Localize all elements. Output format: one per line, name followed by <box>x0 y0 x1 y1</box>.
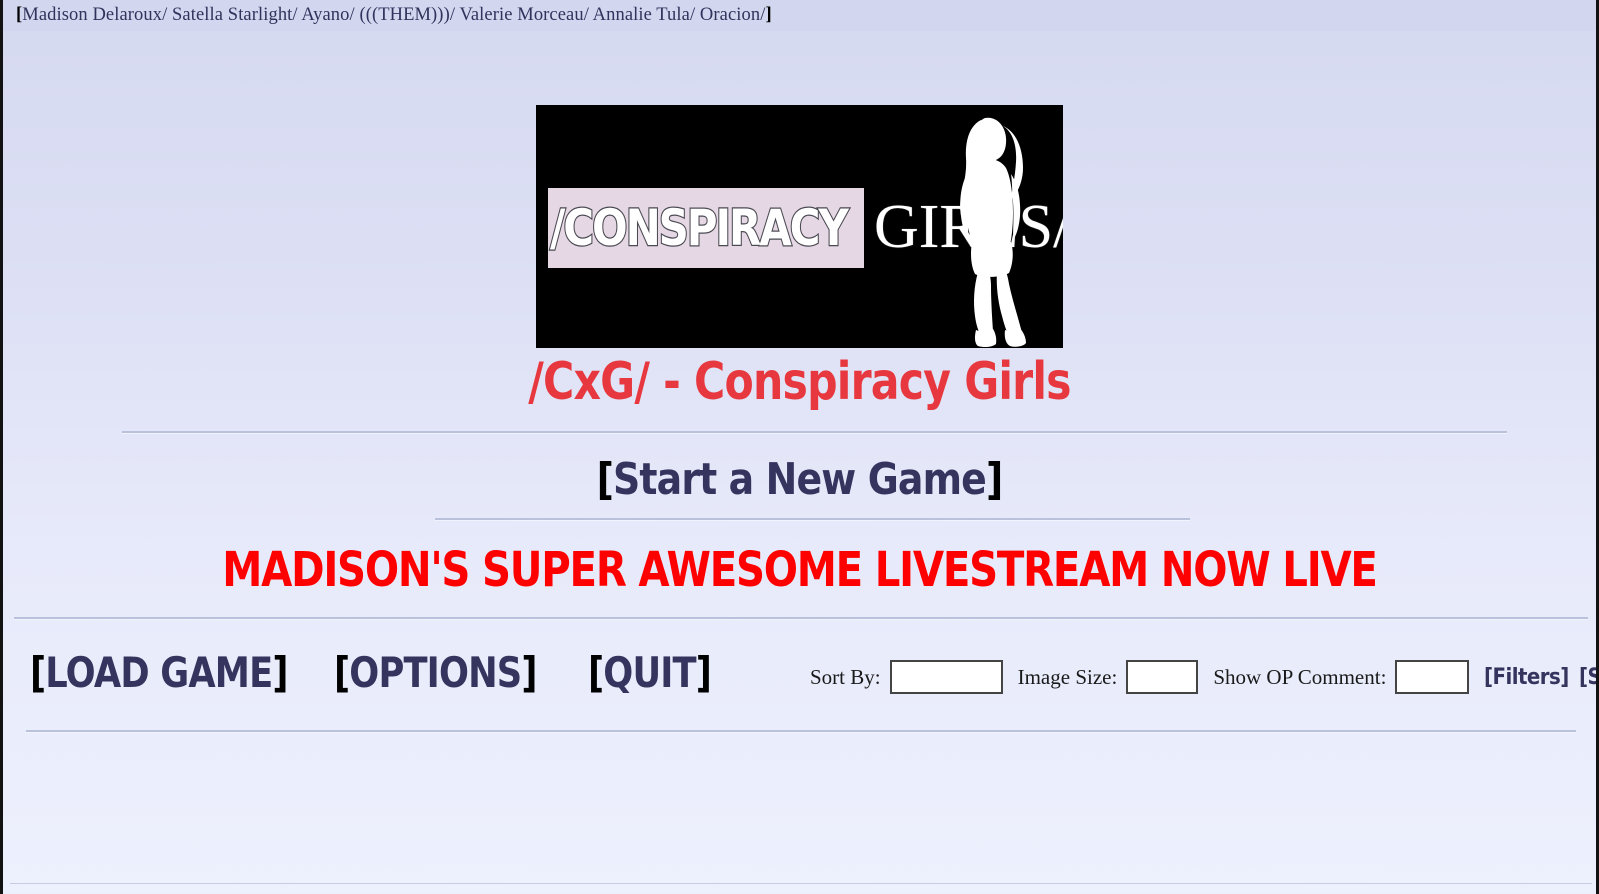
options-close-bracket: ] <box>521 648 536 697</box>
board-list-bar: [Madison Delaroux/ Satella Starlight/ Ay… <box>0 0 1599 31</box>
load-game-close-bracket: ] <box>272 648 287 697</box>
divider-top <box>122 431 1507 434</box>
options-open-bracket: [ <box>334 648 349 697</box>
filter-controls: Sort By: Image Size: Show OP Comment: [F… <box>810 660 1599 694</box>
banner-container: /CONSPIRACY GIRLS/ <box>0 105 1599 348</box>
new-game-close-bracket: ] <box>986 454 1002 505</box>
board-banner-image[interactable]: /CONSPIRACY GIRLS/ <box>536 105 1063 348</box>
options-button[interactable]: [OPTIONS] <box>334 648 537 698</box>
load-game-open-bracket: [ <box>30 648 45 697</box>
search-link[interactable]: [Search] <box>1579 665 1599 690</box>
divider-page-bottom <box>10 883 1592 884</box>
quit-open-bracket: [ <box>588 648 603 697</box>
quit-button[interactable]: [QUIT] <box>588 648 711 698</box>
banner-conspiracy-text: /CONSPIRACY <box>550 192 814 264</box>
filters-link[interactable]: [Filters] <box>1484 665 1569 690</box>
divider-under-new-game <box>435 518 1190 521</box>
options-label: OPTIONS <box>349 648 521 697</box>
quit-close-bracket: ] <box>696 648 711 697</box>
announcement-banner: MADISON'S SUPER AWESOME LIVESTREAM NOW L… <box>128 540 1471 600</box>
woman-silhouette-icon <box>933 116 1053 348</box>
load-game-button[interactable]: [LOAD GAME] <box>30 648 288 698</box>
sort-by-select[interactable] <box>890 660 1003 694</box>
new-game-open-bracket: [ <box>597 454 613 505</box>
show-op-comment-label: Show OP Comment: <box>1213 665 1386 690</box>
new-game-label: Start a New Game <box>613 454 986 505</box>
load-game-label: LOAD GAME <box>45 648 272 697</box>
image-size-select[interactable] <box>1126 660 1198 694</box>
sort-by-label: Sort By: <box>810 665 881 690</box>
show-op-comment-select[interactable] <box>1395 660 1469 694</box>
quit-label: QUIT <box>603 648 695 697</box>
board-list-close-bracket: ] <box>765 5 771 26</box>
board-list-links[interactable]: Madison Delaroux/ Satella Starlight/ Aya… <box>22 5 765 26</box>
page-title: /CxG/ - Conspiracy Girls <box>144 352 1455 412</box>
divider-above-nav <box>14 617 1588 620</box>
image-size-label: Image Size: <box>1018 665 1118 690</box>
start-new-game-link[interactable]: [Start a New Game] <box>112 452 1487 508</box>
divider-below-nav <box>26 730 1576 733</box>
